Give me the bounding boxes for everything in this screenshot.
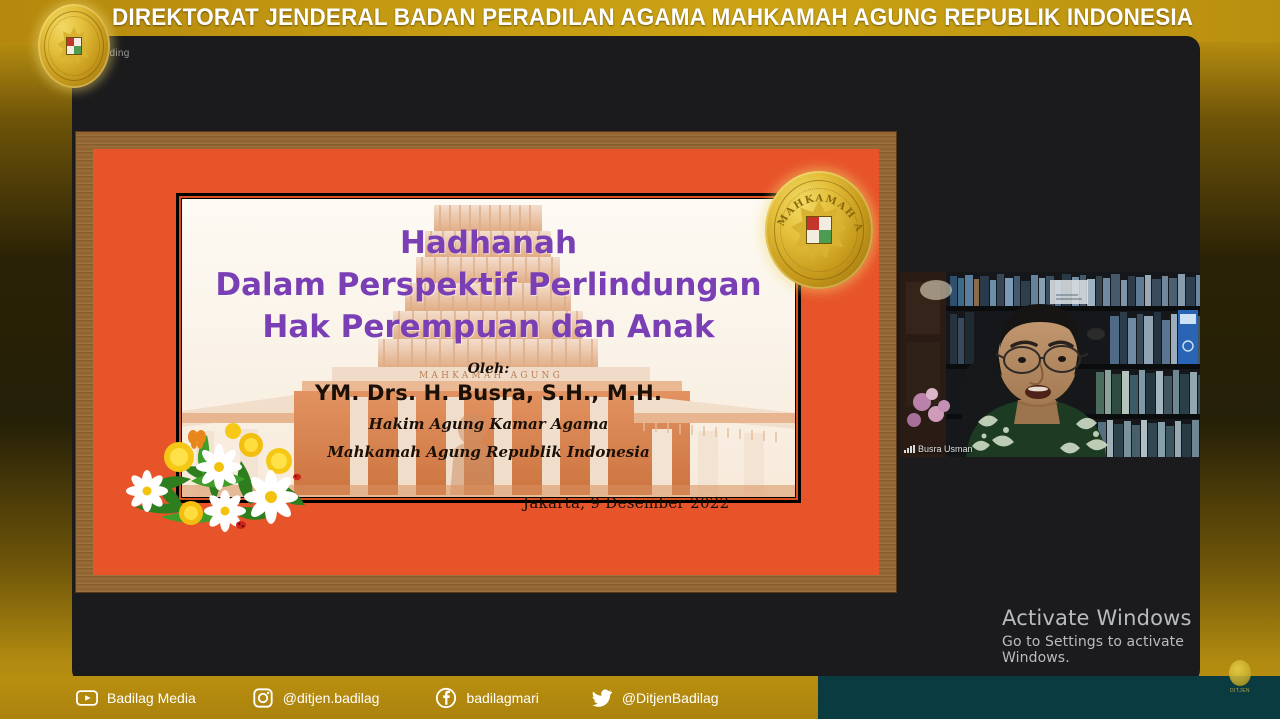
social-link-twitter[interactable]: @DitjenBadilag (591, 687, 719, 709)
slide-title-line-2: Dalam Perspektif Perlindungan (215, 267, 761, 303)
activate-windows-watermark: Activate Windows Go to Settings to activ… (1002, 606, 1200, 666)
video-stage: ording MAHKAMAH AGUNG (72, 36, 1200, 684)
page-title: DIREKTORAT JENDERAL BADAN PERADILAN AGAM… (112, 4, 1193, 32)
slide-title-line-3: Hak Perempuan dan Anak (262, 309, 714, 345)
activate-windows-title: Activate Windows (1002, 606, 1200, 630)
instagram-icon (252, 687, 274, 709)
slide-date: Jakarta, 9 Desember 2022 (523, 494, 729, 512)
speaker-role: Hakim Agung Kamar Agama (369, 415, 609, 433)
participant-video-tile[interactable]: Busra Usman (900, 272, 1200, 457)
twitter-icon (591, 687, 613, 709)
corner-badge-seal (1229, 660, 1251, 686)
activate-windows-subtitle: Go to Settings to activate Windows. (1002, 634, 1200, 666)
social-label-facebook: badilagmari (466, 690, 538, 706)
flower-bouquet-icon (121, 421, 321, 536)
participant-name-label: Busra Usman (904, 444, 973, 454)
signal-bars-icon (904, 445, 915, 453)
mahkamah-agung-seal-icon: MAHKAMAH AGUNG (765, 171, 873, 289)
slide-mat: MAHKAMAH AGUNG (93, 149, 879, 575)
speaker-name: YM. Drs. H. Busra, S.H., M.H. (315, 381, 662, 405)
facebook-icon (435, 687, 457, 709)
byline-label: Oleh: (468, 361, 510, 377)
social-link-youtube[interactable]: Badilag Media (76, 687, 196, 709)
corner-badge-label: DITJEN (1228, 688, 1252, 694)
participant-video-feed (900, 272, 1200, 457)
presentation-slide: MAHKAMAH AGUNG (76, 132, 896, 592)
social-label-twitter: @DitjenBadilag (622, 690, 719, 706)
social-media-bar: Badilag Media @ditjen.badilag badilagmar… (0, 676, 818, 719)
header-bar: DIREKTORAT JENDERAL BADAN PERADILAN AGAM… (0, 0, 1280, 46)
social-link-instagram[interactable]: @ditjen.badilag (252, 687, 380, 709)
slide-title-line-1: Hadhanah (400, 225, 577, 261)
mahkamah-agung-seal-icon (38, 4, 110, 88)
speaker-institution: Mahkamah Agung Republik Indonesia (327, 443, 649, 461)
teal-bottom-strip (818, 676, 1280, 719)
social-link-facebook[interactable]: badilagmari (435, 687, 538, 709)
social-label-youtube: Badilag Media (107, 690, 196, 706)
ditjen-badilag-logo-icon: DITJEN (1228, 660, 1252, 694)
participant-name-text: Busra Usman (918, 444, 973, 454)
social-label-instagram: @ditjen.badilag (283, 690, 380, 706)
youtube-icon (76, 687, 98, 709)
